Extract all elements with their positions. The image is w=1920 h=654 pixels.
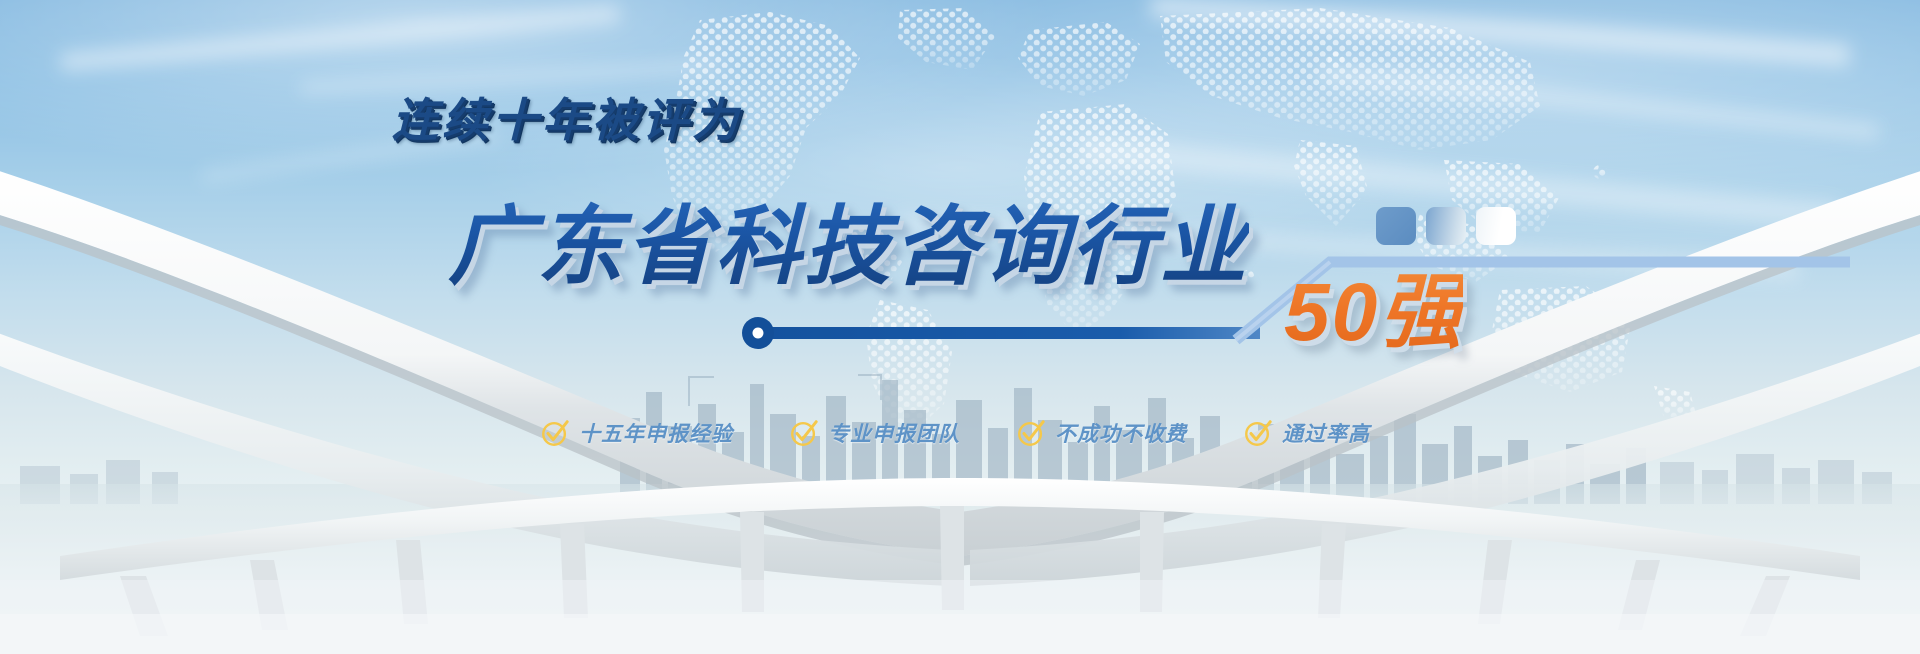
rank-text: 50强 (1284, 245, 1463, 364)
cloud-streak (1321, 67, 1879, 139)
feature-badge: 不成功不收费 (1016, 418, 1187, 448)
world-map-dot-pattern (0, 0, 1920, 430)
cloud-streak (60, 6, 619, 71)
feature-badge: 十五年申报经验 (540, 418, 733, 448)
feature-badge-label: 十五年申报经验 (579, 418, 733, 448)
cloud-streak (201, 129, 500, 183)
check-circle-icon (540, 418, 570, 448)
feature-badge-list: 十五年申报经验 专业申报团队 不成功不收费 通过率高 (540, 418, 1370, 448)
chip-gradient-blue-white-icon (1426, 207, 1466, 245)
cloud-streak (1080, 137, 1839, 229)
headline-text: 广东省科技咨询行业 (448, 176, 1249, 301)
banner-copy: 连续十年被评为 广东省科技咨询行业 50强 (0, 0, 1920, 654)
feature-badge: 通过率高 (1243, 418, 1370, 448)
cloud-streak (1150, 0, 1850, 66)
architecture-scene (0, 0, 1920, 654)
cloud-streak (300, 61, 720, 93)
check-circle-icon (1016, 418, 1046, 448)
chip-group (1376, 207, 1516, 245)
chip-white-icon (1476, 207, 1516, 245)
reflective-ground (0, 484, 1920, 654)
feature-badge-label: 不成功不收费 (1055, 418, 1187, 448)
feature-badge-label: 通过率高 (1282, 418, 1370, 448)
cloud-streak (900, 214, 1800, 279)
architectural-beams (0, 0, 1920, 654)
decorative-graphics (0, 0, 1920, 654)
chip-solid-blue-icon (1376, 207, 1416, 245)
check-circle-icon (1243, 418, 1273, 448)
promo-banner: 连续十年被评为 广东省科技咨询行业 50强 十五年申报经验 专业申报团队 不成功 (0, 0, 1920, 654)
check-circle-icon (789, 418, 819, 448)
connector-lines (0, 0, 1920, 654)
feature-badge-label: 专业申报团队 (828, 418, 960, 448)
eyebrow-text: 连续十年被评为 (392, 84, 742, 150)
feature-badge: 专业申报团队 (789, 418, 960, 448)
sky-haze (0, 0, 1920, 420)
